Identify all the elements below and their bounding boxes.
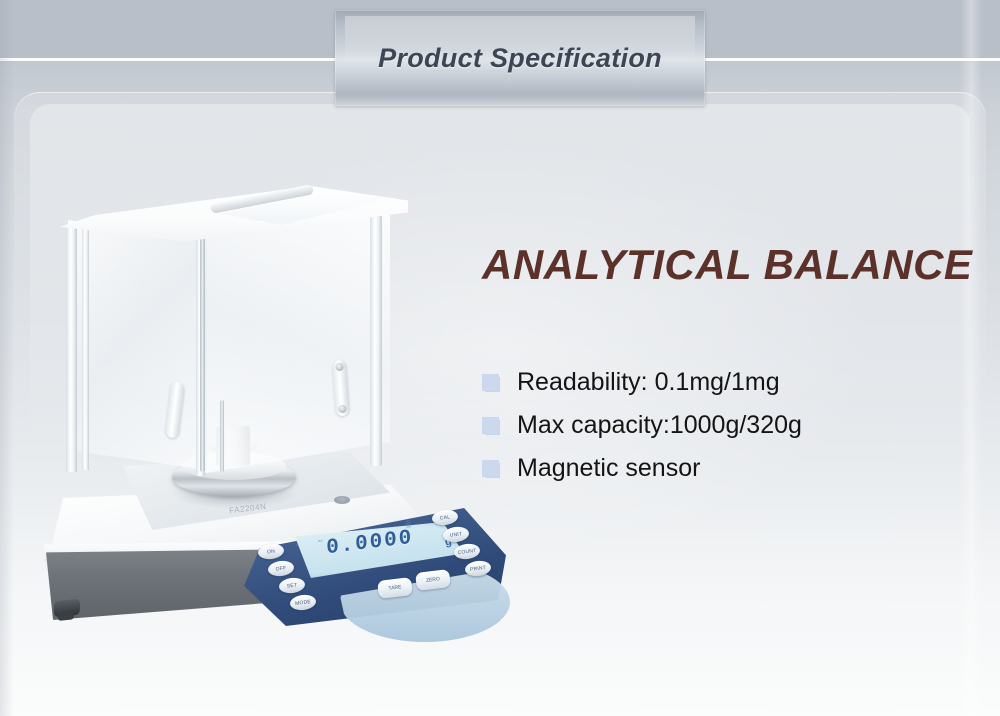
- slide-rail-front: [200, 234, 205, 472]
- analytical-balance-illustration: FA2204N ▫ ▫▫ ▒ 0.0000 g ON OFF SET MODE …: [40, 180, 500, 630]
- background-stripe-left: [0, 0, 14, 716]
- page-title: ANALYTICAL BALANCE: [482, 241, 972, 289]
- lcd-mode-icon: ▫▫: [318, 538, 324, 546]
- glass-panel-right: [200, 206, 390, 474]
- spec-readability: Readability: 0.1mg/1mg: [517, 368, 780, 397]
- list-item: Max capacity:1000g/320g: [482, 411, 952, 440]
- header-banner: Product Specification: [335, 10, 705, 106]
- bullet-square-icon: [482, 417, 499, 434]
- draft-shield: [60, 186, 412, 496]
- slide-rail-lower: [220, 400, 224, 472]
- level-indicator-hole: [334, 496, 350, 504]
- slide-canvas: Product Specification: [0, 0, 1000, 716]
- background-stripe-right: [960, 0, 982, 716]
- bullet-square-icon: [482, 374, 499, 391]
- frame-post-4: [370, 208, 382, 466]
- frame-post-2: [82, 226, 89, 470]
- bullet-square-icon: [482, 460, 499, 477]
- list-item: Readability: 0.1mg/1mg: [482, 368, 952, 397]
- frame-post-1: [66, 224, 77, 472]
- banner-title: Product Specification: [378, 43, 662, 74]
- leveling-foot: [54, 599, 80, 618]
- spec-sensor: Magnetic sensor: [517, 454, 700, 483]
- list-item: Magnetic sensor: [482, 454, 952, 483]
- spec-max-capacity: Max capacity:1000g/320g: [517, 411, 802, 440]
- specification-list: Readability: 0.1mg/1mg Max capacity:1000…: [482, 368, 952, 497]
